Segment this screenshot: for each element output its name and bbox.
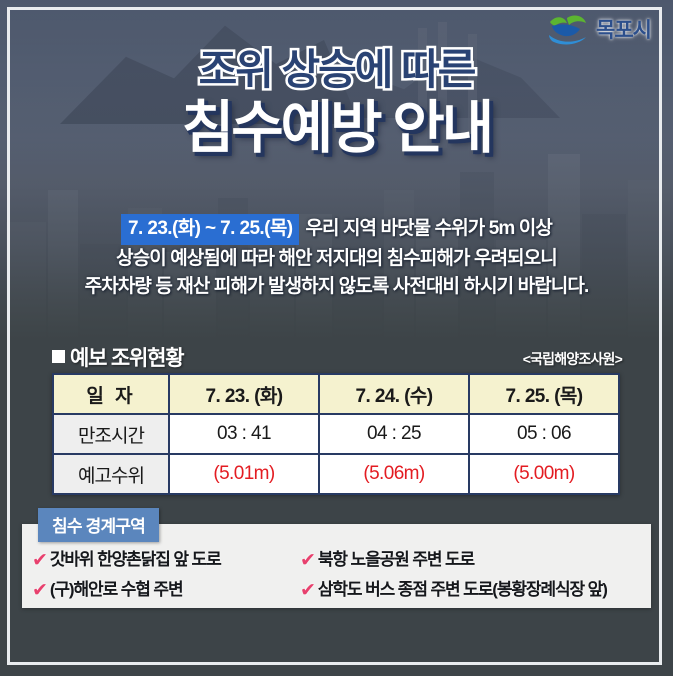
column-header-date-label: 일 자 [53, 374, 169, 414]
title-line-1: 조위 상승에 따른 [0, 46, 673, 93]
city-logo: 목포시 [546, 12, 651, 46]
table-row: 예고수위 (5.01m) (5.06m) (5.00m) [53, 454, 619, 494]
notice-line-2: 상승이 예상됨에 따라 해안 저지대의 침수피해가 우려되오니 [0, 245, 673, 273]
title-line-2: 침수예방 안내 [0, 97, 673, 161]
list-item: ✔ 삼학도 버스 종점 주변 도로(봉황장례식장 앞) [300, 575, 650, 601]
check-mark-icon: ✔ [32, 549, 47, 572]
warning-zone-label: 갓바위 한양촌닭집 앞 도로 [50, 545, 221, 570]
warning-zone-badge: 침수 경계구역 [38, 508, 159, 542]
forecast-level-day-1: (5.01m) [169, 454, 319, 494]
tide-forecast-table: 일 자 7. 23. (화) 7. 24. (수) 7. 25. (목) 만조시… [52, 373, 620, 495]
table-heading: 예보 조위현황 [52, 342, 183, 372]
poster-title: 조위 상승에 따른 침수예방 안내 [0, 46, 673, 161]
high-tide-time-day-1: 03 : 41 [169, 414, 319, 454]
warning-zone-label: 북항 노을공원 주변 도로 [318, 545, 474, 570]
date-range-badge: 7. 23.(화) ~ 7. 25.(목) [121, 214, 299, 245]
table-source-credit: <국립해양조사원> [523, 349, 622, 372]
high-tide-time-day-3: 05 : 06 [469, 414, 619, 454]
warning-zone-label: 삼학도 버스 종점 주변 도로(봉황장례식장 앞) [318, 575, 607, 600]
mokpo-bird-emblem-icon [546, 12, 590, 46]
check-mark-icon: ✔ [300, 549, 315, 572]
table-row: 만조시간 03 : 41 04 : 25 05 : 06 [53, 414, 619, 454]
notice-line-1: 7. 23.(화) ~ 7. 25.(목)우리 지역 바닷물 수위가 5m 이상 [0, 214, 673, 245]
city-logo-text: 목포시 [596, 14, 651, 44]
list-item: ✔ 갓바위 한양촌닭집 앞 도로 [32, 545, 300, 571]
filled-square-bullet-icon [52, 350, 65, 363]
warning-zone-label: (구)해안로 수협 주변 [50, 575, 183, 600]
notice-line-3: 주차차량 등 재산 피해가 발생하지 않도록 사전대비 하시기 바랍니다. [0, 273, 673, 301]
table-heading-text: 예보 조위현황 [70, 342, 183, 372]
notice-line-1-text: 우리 지역 바닷물 수위가 5m 이상 [305, 218, 552, 239]
column-header-day-3: 7. 25. (목) [469, 374, 619, 414]
high-tide-time-day-2: 04 : 25 [319, 414, 469, 454]
check-mark-icon: ✔ [300, 579, 315, 602]
notice-paragraph: 7. 23.(화) ~ 7. 25.(목)우리 지역 바닷물 수위가 5m 이상… [0, 214, 673, 301]
poster-canvas: 목포시 조위 상승에 따른 침수예방 안내 7. 23.(화) ~ 7. 25.… [0, 0, 673, 676]
table-header-row: 일 자 7. 23. (화) 7. 24. (수) 7. 25. (목) [53, 374, 619, 414]
list-item: ✔ 북항 노을공원 주변 도로 [300, 545, 650, 571]
row-label-forecast-level: 예고수위 [53, 454, 169, 494]
forecast-level-day-2: (5.06m) [319, 454, 469, 494]
forecast-level-day-3: (5.00m) [469, 454, 619, 494]
warning-zone-row: ✔ 갓바위 한양촌닭집 앞 도로 ✔ 북항 노을공원 주변 도로 [32, 545, 652, 571]
warning-zone-row: ✔ (구)해안로 수협 주변 ✔ 삼학도 버스 종점 주변 도로(봉황장례식장 … [32, 575, 652, 601]
check-mark-icon: ✔ [32, 579, 47, 602]
list-item: ✔ (구)해안로 수협 주변 [32, 575, 300, 601]
table-heading-row: 예보 조위현황 <국립해양조사원> [52, 342, 622, 372]
column-header-day-1: 7. 23. (화) [169, 374, 319, 414]
column-header-day-2: 7. 24. (수) [319, 374, 469, 414]
row-label-high-tide-time: 만조시간 [53, 414, 169, 454]
warning-zone-list: ✔ 갓바위 한양촌닭집 앞 도로 ✔ 북항 노을공원 주변 도로 ✔ (구)해안… [32, 545, 652, 605]
